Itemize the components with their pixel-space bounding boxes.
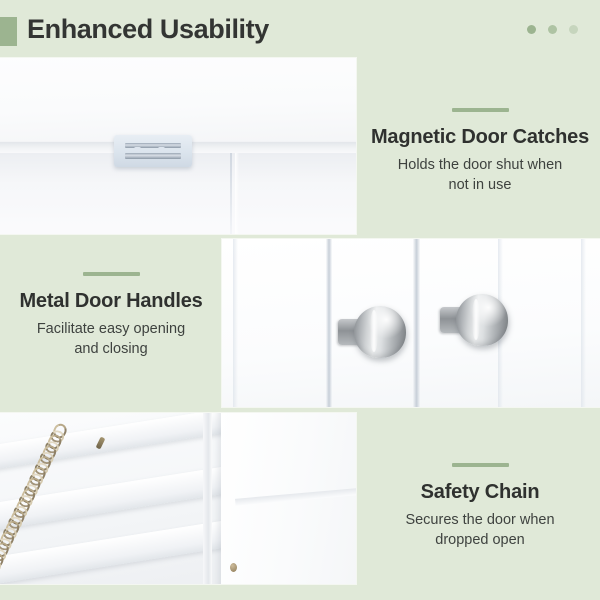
feature-subtitle: Facilitate easy opening and closing [0,319,222,359]
feature-subtitle-line-1: Facilitate easy opening [37,321,185,337]
door-knob-right-icon [456,294,508,346]
feature-caption-door-handles: Metal Door Handles Facilitate easy openi… [0,272,222,359]
door-edge-1 [233,239,238,407]
door-edge-3 [581,239,586,407]
pagination-dot-3-icon[interactable] [569,25,578,34]
feature-caption-magnetic-catch: Magnetic Door Catches Holds the door shu… [360,108,600,195]
magnetic-catch-icon [114,135,192,167]
feature-title: Metal Door Handles [0,289,222,314]
pagination-dot-2-icon[interactable] [548,25,557,34]
feature-subtitle: Secures the door when dropped open [360,510,600,550]
caption-divider-icon [452,463,509,467]
accent-square-icon [0,17,17,46]
catch-tab-left [134,147,141,151]
magnetic-catch-illustration [0,58,356,234]
feature-subtitle-line-2: and closing [74,341,147,357]
catch-tab-right [158,147,165,151]
feature-title: Magnetic Door Catches [360,125,600,150]
caption-divider-icon [83,272,140,276]
feature-subtitle-line-2: dropped open [435,532,525,548]
cabinet-top-surface [0,58,356,146]
feature-photo-door-knobs [222,239,600,407]
feature-subtitle-line-1: Secures the door when [405,512,554,528]
feature-subtitle-line-2: not in use [449,177,512,193]
pagination-dot-1-icon[interactable] [527,25,536,34]
cabinet-seam-highlight [235,153,239,234]
cabinet-seam [230,153,232,234]
feature-photo-magnetic-catch [0,58,356,234]
infographic-canvas: Enhanced Usability [0,0,600,600]
page-title: Enhanced Usability [27,11,269,47]
door-knobs-illustration [222,239,600,407]
cabinet-post [203,413,212,584]
safety-chain-illustration [0,413,356,584]
cabinet-doors-surface [222,239,600,407]
door-screw-icon [230,563,237,572]
feature-subtitle-line-1: Holds the door shut when [398,157,562,173]
header: Enhanced Usability [0,0,600,58]
door-gap-1 [326,239,332,407]
door-knob-left-icon [354,306,406,358]
door-gap-2 [413,239,420,407]
feature-caption-safety-chain: Safety Chain Secures the door when dropp… [360,463,600,550]
pagination-dots [527,25,578,34]
feature-title: Safety Chain [360,480,600,505]
knob-cap-right [456,294,508,346]
feature-photo-safety-chain [0,413,356,584]
feature-subtitle: Holds the door shut when not in use [360,155,600,195]
knob-cap-left [354,306,406,358]
caption-divider-icon [452,108,509,112]
